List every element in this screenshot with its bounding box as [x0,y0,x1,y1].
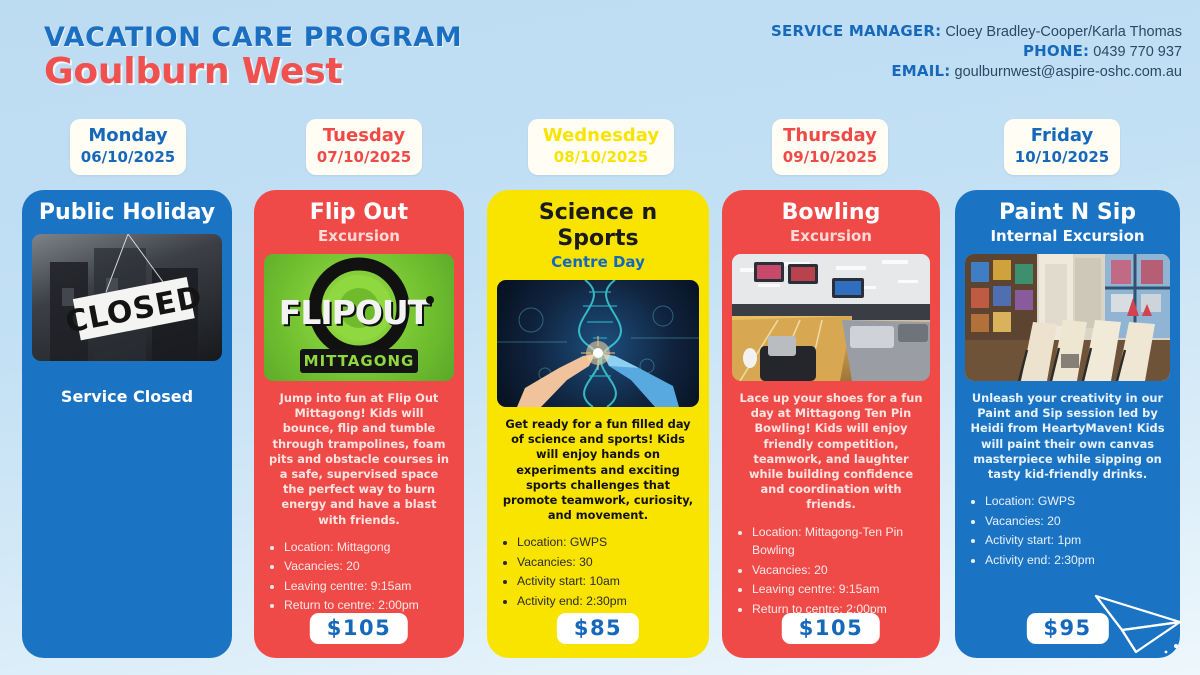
list-item: Vacancies: 20 [752,561,930,580]
activity-subtitle-tuesday: Excursion [264,227,454,246]
list-item: Location: GWPS [517,533,699,552]
list-item: Activity end: 2:30pm [517,592,699,611]
phone-value[interactable]: 0439 770 937 [1093,44,1182,60]
list-item: Activity end: 2:30pm [985,551,1170,570]
art-studio-photo [965,254,1170,381]
list-item: Vacancies: 20 [284,557,454,576]
activity-title-wednesday: Science n Sports [497,200,699,252]
activity-details-thursday: Location: Mittagong-Ten Pin Bowling Vaca… [752,523,930,619]
list-item: Location: Mittagong [284,538,454,557]
bowling-alley-photo [732,254,930,381]
list-item: Location: GWPS [985,492,1170,511]
list-item: Leaving centre: 9:15am [752,580,930,599]
activity-title-tuesday: Flip Out [264,200,454,226]
day-card-thursday[interactable]: Bowling Excursion [722,190,940,658]
contact-block: SERVICE MANAGER: Cloey Bradley-Cooper/Ka… [771,22,1182,82]
contact-row-manager: SERVICE MANAGER: Cloey Bradley-Cooper/Ka… [771,22,1182,42]
service-manager-label: SERVICE MANAGER: [771,22,941,40]
email-value[interactable]: goulburnwest@aspire-oshc.com.au [955,64,1183,80]
price-badge-thursday: $105 [782,613,880,644]
service-manager-value: Cloey Bradley-Cooper/Karla Thomas [945,24,1182,40]
activity-title-monday: Public Holiday [32,200,222,226]
page-header: VACATION CARE PROGRAM Goulburn West SERV… [0,0,1200,108]
flip-out-logo-photo: FLIPOUT FLIPOUT MITTAGONG [264,254,454,381]
list-item: Activity start: 1pm [985,531,1170,550]
science-dna-photo [497,280,699,407]
centre-name: Goulburn West [44,51,462,92]
program-label: VACATION CARE PROGRAM [44,22,462,53]
day-card-monday[interactable]: Public Holiday CLOSED Service Closed [22,190,232,658]
list-item: Vacancies: 30 [517,553,699,572]
service-closed-note: Service Closed [32,387,222,406]
day-name-monday: Monday [70,124,186,148]
svg-text:FLIPOUT: FLIPOUT [279,293,431,332]
price-badge-tuesday: $105 [310,613,408,644]
activity-details-friday: Location: GWPS Vacancies: 20 Activity st… [985,492,1170,569]
activity-title-friday: Paint N Sip [965,200,1170,226]
svg-text:MITTAGONG: MITTAGONG [304,352,415,370]
list-item: Vacancies: 20 [985,512,1170,531]
list-item: Leaving centre: 9:15am [284,577,454,596]
activity-title-thursday: Bowling [732,200,930,226]
day-name-friday: Friday [1004,124,1120,148]
contact-row-email: EMAIL: goulburnwest@aspire-oshc.com.au [771,62,1182,82]
contact-row-phone: PHONE: 0439 770 937 [771,42,1182,62]
closed-sign-photo: CLOSED [32,234,222,361]
price-badge-wednesday: $85 [557,613,639,644]
day-card-wednesday[interactable]: Science n Sports Centre Day [487,190,709,658]
day-card-tuesday[interactable]: Flip Out Excursion FLIPOUT FLIPOUT MITTA… [254,190,464,658]
day-pill-thursday: Thursday 09/10/2025 [772,119,888,175]
day-pill-tuesday: Tuesday 07/10/2025 [306,119,422,175]
activity-description-tuesday: Jump into fun at Flip Out Mittagong! Kid… [268,391,450,528]
activity-subtitle-thursday: Excursion [732,227,930,246]
day-pill-monday: Monday 06/10/2025 [70,119,186,175]
phone-label: PHONE: [1023,42,1089,60]
list-item: Activity start: 10am [517,572,699,591]
paper-plane-icon [1092,582,1184,661]
day-pill-wednesday: Wednesday 08/10/2025 [528,119,674,175]
activity-subtitle-friday: Internal Excursion [965,227,1170,246]
email-label: EMAIL: [891,62,950,80]
activity-details-wednesday: Location: GWPS Vacancies: 30 Activity st… [517,533,699,610]
day-date-friday: 10/10/2025 [1004,148,1120,167]
list-item: Location: Mittagong-Ten Pin Bowling [752,523,930,560]
day-pill-friday: Friday 10/10/2025 [1004,119,1120,175]
activity-description-friday: Unleash your creativity in our Paint and… [969,391,1166,482]
day-date-tuesday: 07/10/2025 [306,148,422,167]
day-name-tuesday: Tuesday [306,124,422,148]
day-name-wednesday: Wednesday [528,124,674,148]
day-date-thursday: 09/10/2025 [772,148,888,167]
day-name-thursday: Thursday [772,124,888,148]
activity-details-tuesday: Location: Mittagong Vacancies: 20 Leavin… [284,538,454,615]
activity-subtitle-wednesday: Centre Day [497,253,699,272]
day-date-monday: 06/10/2025 [70,148,186,167]
activity-description-wednesday: Get ready for a fun filled day of scienc… [501,417,695,523]
day-date-wednesday: 08/10/2025 [528,148,674,167]
brand-block: VACATION CARE PROGRAM Goulburn West [44,22,462,92]
activity-description-thursday: Lace up your shoes for a fun day at Mitt… [736,391,926,513]
